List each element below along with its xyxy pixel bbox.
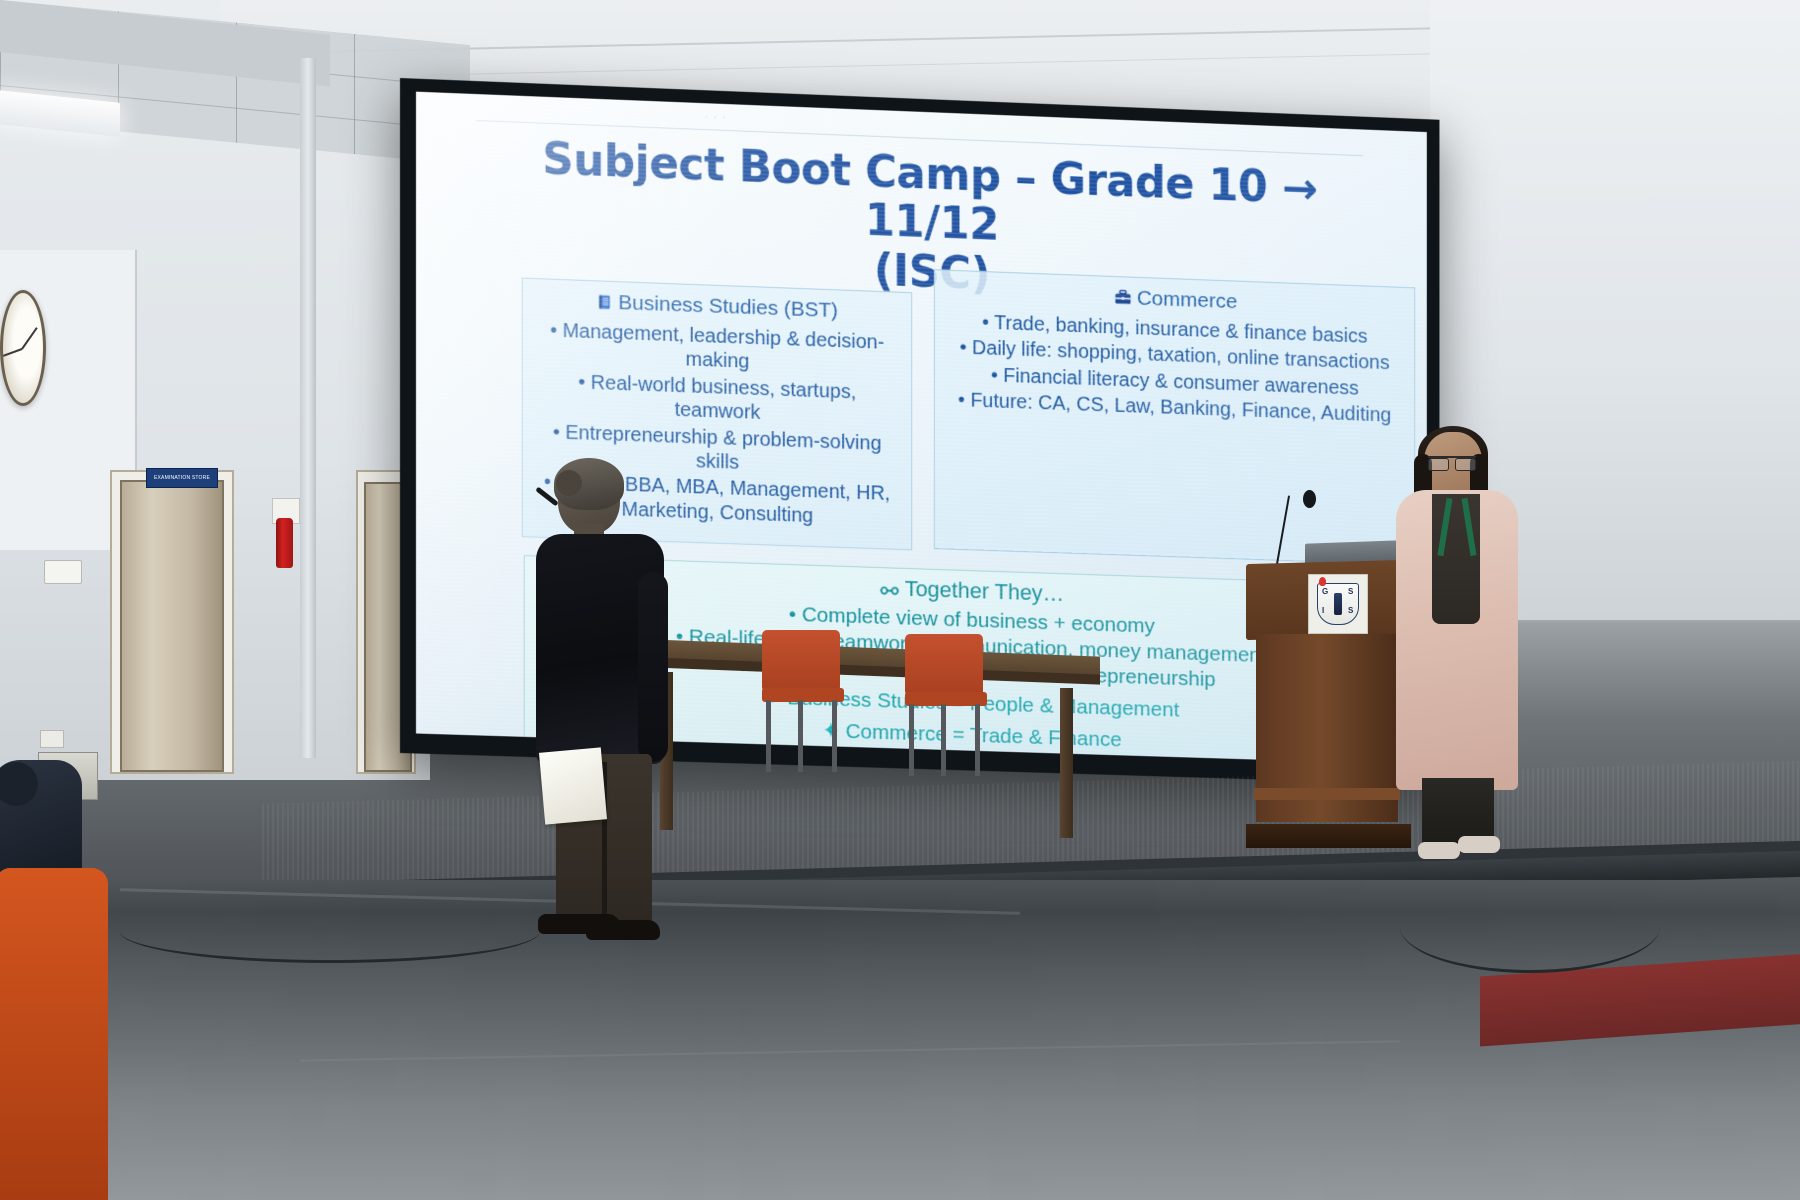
glasses-icon — [1428, 456, 1476, 469]
together-they-heading-text: Together They… — [905, 576, 1065, 606]
fire-extinguisher-icon — [276, 518, 293, 568]
school-crest: G S I S — [1308, 574, 1368, 634]
briefcase-icon — [1113, 288, 1132, 312]
power-socket[interactable] — [44, 560, 82, 584]
handout-papers — [539, 747, 607, 824]
commerce-box: Commerce Trade, banking, insurance & fin… — [934, 269, 1415, 565]
notebook-icon — [597, 292, 614, 317]
wall-column — [300, 58, 316, 758]
wall-clock-icon — [0, 290, 46, 406]
commerce-heading-text: Commerce — [1137, 287, 1237, 314]
table-leg — [1060, 688, 1073, 838]
floor-cable-right — [1400, 880, 1660, 973]
business-studies-heading-text: Business Studies (BST) — [618, 291, 838, 322]
commerce-bullets: Trade, banking, insurance & finance basi… — [935, 309, 1414, 429]
foreground-chair[interactable] — [0, 868, 108, 1200]
floor-cable — [120, 900, 540, 963]
examination-store-sign: EXAMINATION STORE — [146, 468, 218, 488]
podium-shelf — [1254, 788, 1400, 800]
presenter-left — [530, 462, 690, 954]
door-left[interactable] — [120, 480, 224, 772]
microphone-icon — [1303, 490, 1316, 508]
presenter-right — [1392, 432, 1522, 864]
power-socket-lower[interactable] — [40, 730, 64, 748]
link-icon — [880, 577, 900, 603]
podium: G S I S — [1246, 562, 1406, 862]
presentation-hall-photo: EXAMINATION STORE · · · Subject Boot Cam… — [0, 0, 1800, 1200]
podium-base — [1246, 824, 1411, 848]
slide-overflow-text-top: · · · — [705, 111, 727, 124]
